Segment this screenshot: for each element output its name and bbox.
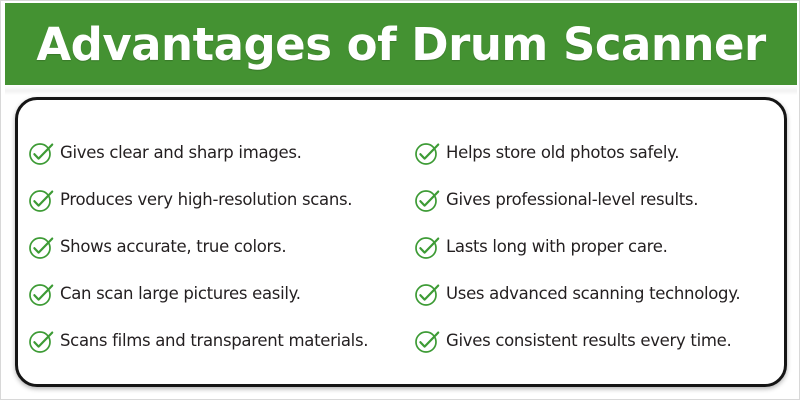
- check-circle-icon: [414, 328, 440, 354]
- list-item: Uses advanced scanning technology.: [414, 271, 794, 318]
- list-item-label: Lasts long with proper care.: [446, 239, 668, 256]
- check-circle-icon: [414, 234, 440, 260]
- list-item: Scans films and transparent materials.: [28, 318, 428, 365]
- check-circle-icon: [28, 140, 54, 166]
- list-item: Gives consistent results every time.: [414, 318, 794, 365]
- list-item-label: Gives clear and sharp images.: [60, 145, 302, 162]
- advantages-column-right: Helps store old photos safely. Gives pro…: [414, 130, 794, 365]
- list-item: Lasts long with proper care.: [414, 224, 794, 271]
- check-circle-icon: [414, 281, 440, 307]
- list-item-label: Produces very high-resolution scans.: [60, 192, 352, 209]
- title-banner: Advantages of Drum Scanner: [5, 3, 797, 85]
- list-item-label: Shows accurate, true colors.: [60, 239, 286, 256]
- list-item: Can scan large pictures easily.: [28, 271, 428, 318]
- check-circle-icon: [414, 140, 440, 166]
- check-circle-icon: [28, 187, 54, 213]
- list-item-label: Gives professional-level results.: [446, 192, 698, 209]
- list-item: Gives professional-level results.: [414, 177, 794, 224]
- check-circle-icon: [28, 234, 54, 260]
- list-item-label: Helps store old photos safely.: [446, 145, 679, 162]
- list-item-label: Can scan large pictures easily.: [60, 286, 301, 303]
- check-circle-icon: [414, 187, 440, 213]
- list-item-label: Gives consistent results every time.: [446, 333, 731, 350]
- page-title: Advantages of Drum Scanner: [36, 22, 765, 67]
- infographic-root: Advantages of Drum Scanner Gives clear a…: [0, 0, 800, 400]
- list-item-label: Uses advanced scanning technology.: [446, 286, 740, 303]
- list-item: Gives clear and sharp images.: [28, 130, 428, 177]
- advantages-column-left: Gives clear and sharp images. Produces v…: [28, 130, 428, 365]
- list-item-label: Scans films and transparent materials.: [60, 333, 368, 350]
- list-item: Helps store old photos safely.: [414, 130, 794, 177]
- content-box: Gives clear and sharp images. Produces v…: [15, 97, 787, 387]
- advantages-columns: Gives clear and sharp images. Produces v…: [18, 100, 784, 384]
- check-circle-icon: [28, 328, 54, 354]
- banner-divider: [5, 85, 797, 95]
- list-item: Shows accurate, true colors.: [28, 224, 428, 271]
- check-circle-icon: [28, 281, 54, 307]
- list-item: Produces very high-resolution scans.: [28, 177, 428, 224]
